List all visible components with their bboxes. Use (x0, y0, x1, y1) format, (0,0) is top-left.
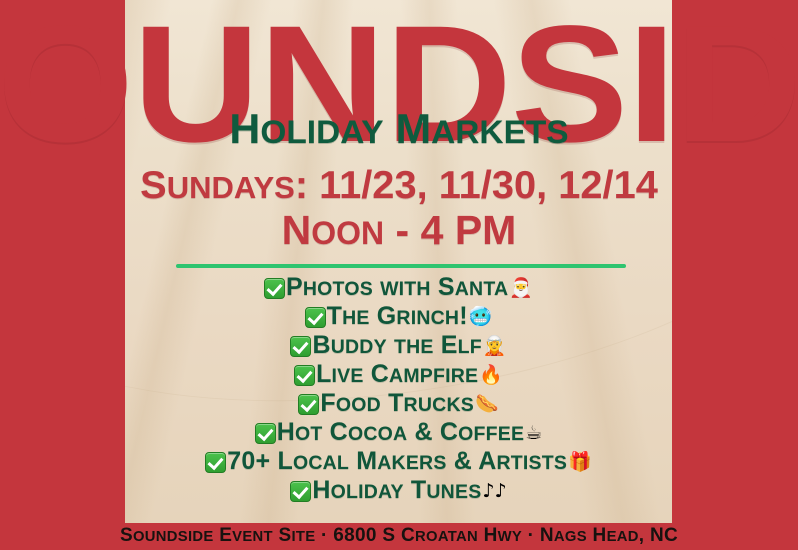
white-check-mark-icon (305, 307, 326, 328)
list-item: PHOTOS WITH SANTA 🎅 (264, 274, 533, 303)
venue-footer: SOUNDSIDE EVENT SITE · 6800 S CROATAN HW… (0, 523, 798, 550)
list-item: THE GRINCH! 🥶 (305, 303, 493, 332)
white-check-mark-icon (264, 278, 285, 299)
features-checklist: PHOTOS WITH SANTA 🎅 THE GRINCH! 🥶 BUDDY … (125, 274, 672, 506)
white-check-mark-icon (298, 394, 319, 415)
event-hours: NOON - 4 PM (282, 210, 517, 254)
divider-rule (176, 264, 626, 268)
event-subtitle: HOLIDAY MARKETS (229, 108, 568, 153)
music-notes-emoji: ♪♪ (482, 482, 506, 501)
white-check-mark-icon (290, 481, 311, 502)
list-item-label: HOLIDAY TUNES (312, 478, 481, 505)
list-item: HOLIDAY TUNES ♪♪ (290, 477, 506, 506)
white-check-mark-icon (294, 365, 315, 386)
fire-emoji: 🔥 (479, 366, 503, 385)
title-block: SOUNDSIDE HOLIDAY MARKETS (0, 0, 798, 172)
list-item: LIVE CAMPFIRE 🔥 (294, 361, 503, 390)
list-item: 70+ LOCAL MAKERS & ARTISTS 🎁 (205, 448, 591, 477)
list-item: FOOD TRUCKS 🌭 (298, 390, 498, 419)
event-dates: SUNDAYS: 11/23, 11/30, 12/14 (140, 166, 658, 208)
hot-dog-emoji: 🌭 (475, 395, 499, 414)
list-item-label: PHOTOS WITH SANTA (286, 275, 508, 302)
list-item: HOT COCOA & COFFEE ☕ (255, 419, 542, 448)
hot-beverage-emoji: ☕ (525, 424, 542, 443)
white-check-mark-icon (290, 336, 311, 357)
elf-emoji: 🧝 (483, 337, 507, 356)
wrapped-gift-emoji: 🎁 (568, 453, 592, 472)
list-item-label: 70+ LOCAL MAKERS & ARTISTS (227, 449, 567, 476)
grinch-face-emoji: 🥶 (469, 308, 493, 327)
event-flyer: SOUNDSIDE HOLIDAY MARKETS SUNDAYS: 11/23… (0, 0, 798, 550)
white-check-mark-icon (205, 452, 226, 473)
list-item-label: BUDDY THE ELF (312, 333, 481, 360)
white-check-mark-icon (255, 423, 276, 444)
list-item-label: THE GRINCH! (327, 304, 468, 331)
santa-claus-emoji: 🎅 (509, 279, 533, 298)
list-item-label: HOT COCOA & COFFEE (277, 420, 524, 447)
list-item: BUDDY THE ELF 🧝 (290, 332, 506, 361)
list-item-label: LIVE CAMPFIRE (316, 362, 478, 389)
list-item-label: FOOD TRUCKS (320, 391, 474, 418)
venue-address: SOUNDSIDE EVENT SITE · 6800 S CROATAN HW… (120, 526, 678, 547)
